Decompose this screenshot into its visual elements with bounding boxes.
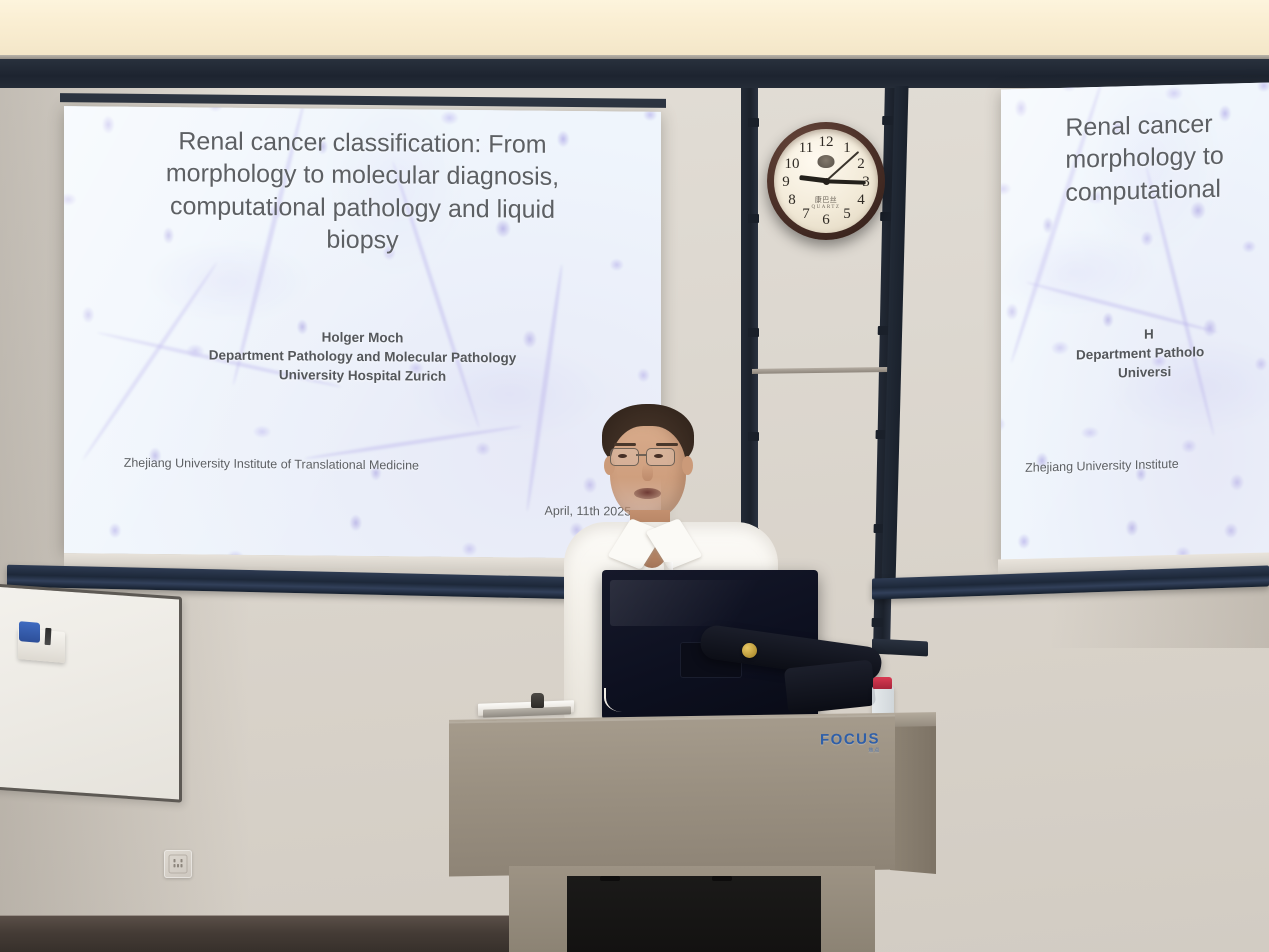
slide-institution: University Hospital Zurich [100, 364, 625, 388]
clock-numeral: 2 [852, 155, 870, 173]
slide-author-block-right: H Department Patholo Universi [1076, 319, 1269, 383]
baseboard [0, 916, 585, 952]
podium-recess-panel [567, 876, 821, 952]
speaker-eye-right [654, 454, 663, 458]
header-beam [0, 59, 1269, 90]
clock-minute-hand [826, 179, 866, 184]
glasses-bridge [636, 454, 646, 456]
clock-numeral: 10 [783, 155, 801, 173]
clock-numeral: 5 [838, 205, 856, 223]
clock-numeral: 11 [797, 139, 815, 157]
desk-knob[interactable] [531, 693, 544, 708]
podium-brand-logo: FOCUS 焦点 [820, 730, 880, 754]
clock-numeral: 8 [783, 191, 801, 209]
speaker-brow-left [614, 443, 636, 446]
speaker-ear-right [682, 456, 693, 475]
clock-face: 康巴丝 QUARTZ 12 1 2 3 4 5 6 7 8 9 10 11 [774, 129, 878, 233]
speaker-mouth [634, 488, 661, 499]
wall-clock: 康巴丝 QUARTZ 12 1 2 3 4 5 6 7 8 9 10 11 [767, 122, 885, 240]
wall-rail-foot [872, 639, 928, 657]
speaker-eye-left [618, 454, 627, 458]
ceiling [0, 0, 1269, 58]
whiteboard [0, 583, 182, 802]
clock-brand-label: 康巴丝 QUARTZ [812, 195, 841, 210]
podium-recess-tab [600, 876, 620, 881]
clock-numeral: 9 [777, 173, 795, 191]
slide-title-right: Renal cancer morphology to computational [1065, 105, 1269, 210]
water-bottle-cap [873, 677, 892, 689]
clock-center-cap [823, 178, 830, 185]
speaker-brow-right [656, 443, 678, 446]
monitor-arm-clamp[interactable] [784, 660, 876, 715]
speaker-nose [642, 464, 653, 481]
clock-numeral: 6 [817, 211, 835, 229]
slide-title: Renal cancer classification: From morpho… [112, 124, 613, 259]
slide-host-right: Zhejiang University Institute [1025, 455, 1250, 475]
clock-logo-icon [818, 155, 835, 168]
slide-author-block: Holger Moch Department Pathology and Mol… [100, 325, 625, 388]
wall-outlet[interactable] [164, 850, 192, 878]
whiteboard-marker [45, 628, 52, 645]
podium-recess-tab [712, 876, 732, 881]
slide-content-right: Renal cancer morphology to computational… [1001, 82, 1269, 566]
clock-numeral: 12 [817, 133, 835, 151]
monitor-arm-hinge [742, 643, 757, 658]
whiteboard-eraser [19, 621, 40, 643]
lecture-hall-scene: 康巴丝 QUARTZ 12 1 2 3 4 5 6 7 8 9 10 11 [0, 0, 1269, 952]
podium-side-panel [890, 722, 936, 874]
slide-host: Zhejiang University Institute of Transla… [124, 455, 625, 474]
projection-screen-right: Renal cancer morphology to computational… [1001, 82, 1269, 566]
